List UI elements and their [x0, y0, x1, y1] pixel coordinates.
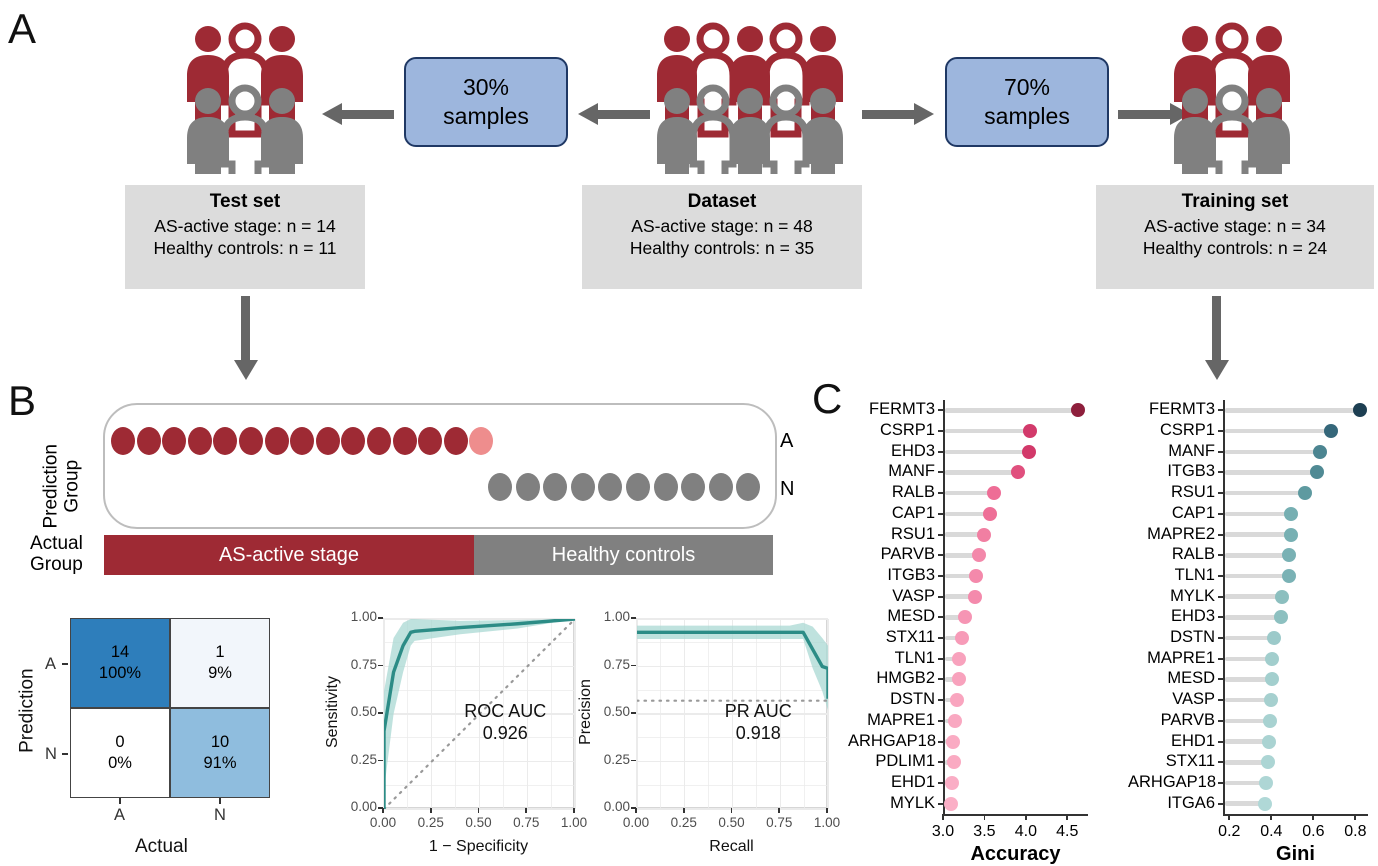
lollipop-dot [1259, 776, 1273, 790]
x-tick-label: 0.00 [619, 815, 653, 830]
prediction-dot-correct [341, 427, 365, 455]
lollipop-stem [1225, 594, 1282, 599]
lollipop-stem [1225, 553, 1289, 558]
prediction-dot-correct [367, 427, 391, 455]
lollipop-stem [945, 450, 1029, 455]
callout-70-line2: samples [984, 102, 1070, 131]
gene-label: ITGB3 [1128, 462, 1215, 481]
people-group-test-set [183, 22, 307, 174]
gene-label: MANF [1128, 442, 1215, 461]
prediction-dot-correct [290, 427, 314, 455]
x-tick-mark [1066, 814, 1068, 820]
panel-c-letter: C [812, 378, 842, 420]
y-tick-mark [631, 617, 636, 619]
y-tick-label: 0.00 [594, 799, 630, 814]
y-tick-mark [1218, 575, 1223, 577]
lollipop-stem [1225, 470, 1317, 475]
panel-b-letter: B [8, 380, 36, 422]
gene-label: STX11 [1128, 752, 1215, 771]
prediction-dot-healthy [709, 473, 733, 501]
test-set-line2: Healthy controls: n = 11 [135, 237, 355, 259]
y-tick-mark [938, 575, 943, 577]
callout-70-percent: 70% samples [945, 57, 1109, 147]
accuracy-lollipop-chart: FERMT3CSRP1EHD3MANFRALBCAP1RSU1PARVBITGB… [848, 392, 1096, 866]
cm-cell-n-n-percent: 91% [203, 753, 236, 774]
y-tick-mark [938, 616, 943, 618]
y-tick-mark [938, 554, 943, 556]
x-axis-title: Gini [1223, 843, 1368, 866]
group-bar-healthy-label: Healthy controls [552, 544, 695, 567]
y-tick-mark [378, 760, 383, 762]
gene-label: STX11 [848, 628, 935, 647]
x-tick-mark [683, 808, 685, 813]
prediction-dot-correct [188, 427, 212, 455]
gini-lollipop-chart: FERMT3CSRP1MANFITGB3RSU1CAP1MAPRE2RALBTL… [1128, 392, 1376, 866]
gene-label: FERMT3 [848, 400, 935, 419]
lollipop-dot [1324, 424, 1338, 438]
auc-annotation: ROC AUC0.926 [440, 700, 570, 745]
lollipop-dot [952, 672, 966, 686]
cm-cell-n-a-count: 0 [115, 732, 124, 753]
lollipop-dot [987, 486, 1001, 500]
y-tick-mark [1218, 678, 1223, 680]
lollipop-dot [1298, 486, 1312, 500]
x-tick-label: 0.50 [462, 815, 496, 830]
cm-cell-n-a-percent: 0% [108, 753, 132, 774]
row-label-a: A [780, 430, 793, 453]
lollipop-stem [1225, 615, 1281, 620]
gene-label: MANF [848, 462, 935, 481]
y-tick-mark [1218, 471, 1223, 473]
gene-label: ITGA6 [1128, 794, 1215, 813]
gene-label: MAPRE1 [1128, 649, 1215, 668]
cm-cell-a-n-count: 1 [215, 642, 224, 663]
x-tick-mark [525, 808, 527, 813]
auc-label: ROC AUC [464, 701, 546, 721]
gene-label: EHD3 [848, 442, 935, 461]
x-tick-mark [478, 808, 480, 813]
row-label-n: N [780, 478, 794, 501]
x-tick-mark [942, 814, 944, 820]
x-tick-mark [826, 808, 828, 813]
y-tick-mark [378, 807, 383, 809]
lollipop-dot [946, 735, 960, 749]
prediction-dot-correct [265, 427, 289, 455]
y-tick-mark [1218, 803, 1223, 805]
cm-row-label-a: A [45, 655, 56, 674]
gene-label: ARHGAP18 [848, 732, 935, 751]
callout-30-percent: 30% samples [404, 57, 568, 147]
lollipop-dot [983, 507, 997, 521]
prediction-dot-correct [213, 427, 237, 455]
info-box-training-set: Training set AS-active stage: n = 34 Hea… [1096, 185, 1374, 289]
gene-label: MESD [1128, 669, 1215, 688]
lollipop-dot [945, 776, 959, 790]
confusion-matrix: 14 100% 1 9% 0 0% 10 91% A N A N Predict… [0, 600, 310, 866]
prediction-dot-correct [111, 427, 135, 455]
prediction-dot-healthy [626, 473, 650, 501]
y-tick-mark [631, 760, 636, 762]
cm-cell-a-a-percent: 100% [99, 663, 141, 684]
y-tick-mark [1218, 534, 1223, 536]
prediction-dot-correct [162, 427, 186, 455]
y-tick-mark [938, 761, 943, 763]
test-set-line1: AS-active stage: n = 14 [135, 215, 355, 237]
gene-label: FERMT3 [1128, 400, 1215, 419]
test-set-title: Test set [135, 191, 355, 213]
cm-x-title: Actual [135, 836, 188, 858]
gene-label: MYLK [848, 794, 935, 813]
pr-plot: 0.000.250.500.751.000.000.250.500.751.00… [578, 600, 833, 866]
cm-col-tick-a [119, 798, 121, 804]
y-tick-mark [1218, 492, 1223, 494]
callout-30-line1: 30% [443, 73, 529, 102]
lollipop-dot [1313, 445, 1327, 459]
gene-label: TLN1 [1128, 566, 1215, 585]
lollipop-dot [1263, 714, 1277, 728]
prediction-dot-misclassified [469, 427, 493, 455]
x-tick-label: 0.00 [366, 815, 400, 830]
lollipop-dot [1274, 610, 1288, 624]
gene-label: EHD3 [1128, 607, 1215, 626]
y-tick-mark [938, 637, 943, 639]
prediction-group-line2: Group [62, 460, 83, 513]
cm-cell-a-n: 1 9% [170, 618, 270, 708]
group-bar-as-active-label: AS-active stage [219, 544, 359, 567]
lollipop-dot [1284, 507, 1298, 521]
y-tick-mark [938, 492, 943, 494]
y-tick-label: 0.50 [594, 704, 630, 719]
lollipop-stem [1225, 450, 1320, 455]
gene-label: PARVB [1128, 711, 1215, 730]
confidence-band [637, 623, 828, 710]
lollipop-stem [945, 408, 1078, 413]
lollipop-dot [1022, 445, 1036, 459]
x-tick-mark [1025, 814, 1027, 820]
cm-col-label-a: A [114, 806, 125, 825]
gene-label: PARVB [848, 545, 935, 564]
prediction-dot-correct [444, 427, 468, 455]
y-tick-mark [1218, 761, 1223, 763]
x-tick-mark [1270, 814, 1272, 820]
x-tick-label: 1.00 [810, 815, 844, 830]
training-set-title: Training set [1106, 191, 1364, 213]
prediction-dot-healthy [488, 473, 512, 501]
lollipop-dot [958, 610, 972, 624]
lollipop-stem [1225, 408, 1360, 413]
group-bar-as-active: AS-active stage [104, 535, 474, 575]
prediction-group-line1: Prediction [41, 444, 62, 529]
lollipop-dot [1353, 403, 1367, 417]
actual-group-line2: Group [30, 554, 83, 575]
x-tick-mark [778, 808, 780, 813]
x-tick-label: 3.0 [921, 823, 965, 841]
x-tick-label: 0.4 [1249, 823, 1293, 841]
y-tick-mark [378, 617, 383, 619]
y-tick-mark [1218, 782, 1223, 784]
x-tick-label: 4.0 [1004, 823, 1048, 841]
lollipop-stem [1225, 491, 1305, 496]
gene-label: RALB [848, 483, 935, 502]
y-tick-mark [1218, 430, 1223, 432]
prediction-dot-healthy [681, 473, 705, 501]
prediction-dot-healthy [571, 473, 595, 501]
gene-label: RSU1 [848, 525, 935, 544]
lollipop-dot [947, 755, 961, 769]
dataset-line2: Healthy controls: n = 35 [592, 237, 852, 259]
cm-row-tick-a [62, 663, 68, 665]
gene-label: EHD1 [848, 773, 935, 792]
gene-label: RSU1 [1128, 483, 1215, 502]
lollipop-dot [1265, 652, 1279, 666]
y-tick-mark [631, 712, 636, 714]
x-tick-mark [984, 814, 986, 820]
prediction-dot-correct [418, 427, 442, 455]
gene-label: DSTN [1128, 628, 1215, 647]
gene-label: DSTN [848, 690, 935, 709]
gene-label: VASP [848, 587, 935, 606]
gene-label: CAP1 [848, 504, 935, 523]
x-tick-label: 0.6 [1291, 823, 1335, 841]
dataset-line1: AS-active stage: n = 48 [592, 215, 852, 237]
y-tick-mark [938, 409, 943, 411]
y-tick-label: 1.00 [594, 609, 630, 624]
lollipop-dot [944, 797, 958, 811]
lollipop-dot [950, 693, 964, 707]
lollipop-dot [955, 631, 969, 645]
people-group-training-set [1170, 22, 1294, 174]
gene-label: PDLIM1 [848, 752, 935, 771]
x-tick-mark [573, 808, 575, 813]
lollipop-stem [1225, 429, 1331, 434]
roc-plot: 0.000.250.500.751.000.000.250.500.751.00… [325, 600, 580, 866]
people-group-dataset [655, 22, 855, 174]
cm-cell-n-n: 10 91% [170, 708, 270, 798]
x-tick-label: 0.25 [667, 815, 701, 830]
lollipop-dot [968, 590, 982, 604]
y-tick-mark [1218, 720, 1223, 722]
prediction-dot-healthy [543, 473, 567, 501]
cm-cell-n-n-count: 10 [211, 732, 229, 753]
lollipop-stem [1225, 532, 1291, 537]
lollipop-stem [945, 429, 1030, 434]
y-axis-title: Sensitivity [324, 617, 342, 807]
lollipop-dot [1071, 403, 1085, 417]
x-tick-label: 3.5 [962, 823, 1006, 841]
auc-annotation: PR AUC0.918 [693, 700, 823, 745]
y-tick-mark [938, 596, 943, 598]
lollipop-dot [1264, 693, 1278, 707]
y-tick-mark [938, 451, 943, 453]
auc-value: 0.918 [736, 723, 781, 743]
y-tick-mark [1218, 554, 1223, 556]
dataset-title: Dataset [592, 191, 852, 213]
y-tick-label: 0.50 [341, 704, 377, 719]
prediction-dot-container [103, 403, 777, 529]
y-tick-mark [1218, 513, 1223, 515]
y-tick-mark [378, 712, 383, 714]
callout-70-line1: 70% [984, 73, 1070, 102]
x-tick-label: 4.5 [1045, 823, 1089, 841]
x-tick-mark [1354, 814, 1356, 820]
y-tick-mark [1218, 616, 1223, 618]
actual-group-axis-label: Actual Group [30, 533, 83, 576]
x-tick-label: 0.75 [509, 815, 543, 830]
lollipop-dot [1262, 735, 1276, 749]
lollipop-dot [948, 714, 962, 728]
y-tick-mark [938, 720, 943, 722]
prediction-dot-correct [393, 427, 417, 455]
lollipop-dot [1267, 631, 1281, 645]
gene-label: MESD [848, 607, 935, 626]
x-tick-label: 0.2 [1207, 823, 1251, 841]
prediction-dot-correct [316, 427, 340, 455]
x-axis-title: 1 − Specificity [383, 838, 574, 856]
y-tick-mark [938, 699, 943, 701]
y-tick-mark [938, 534, 943, 536]
lollipop-dot [969, 569, 983, 583]
gene-label: CAP1 [1128, 504, 1215, 523]
lollipop-dot [1310, 465, 1324, 479]
lollipop-dot [1275, 590, 1289, 604]
y-tick-mark [938, 741, 943, 743]
x-axis-line [1223, 814, 1368, 816]
lollipop-stem [945, 470, 1018, 475]
training-set-line2: Healthy controls: n = 24 [1106, 237, 1364, 259]
x-tick-mark [1312, 814, 1314, 820]
y-tick-mark [1218, 596, 1223, 598]
y-axis-line [943, 400, 945, 814]
prediction-dot-correct [137, 427, 161, 455]
y-tick-mark [1218, 741, 1223, 743]
y-tick-mark [938, 803, 943, 805]
x-tick-label: 0.25 [414, 815, 448, 830]
lollipop-dot [1261, 755, 1275, 769]
cm-y-title: Prediction [16, 666, 37, 756]
cm-cell-a-a-count: 14 [111, 642, 129, 663]
x-tick-mark [1228, 814, 1230, 820]
y-tick-mark [631, 807, 636, 809]
y-tick-mark [1218, 699, 1223, 701]
callout-30-line2: samples [443, 102, 529, 131]
gene-label: CSRP1 [848, 421, 935, 440]
y-axis-title: Precision [577, 617, 595, 807]
auc-value: 0.926 [483, 723, 528, 743]
lollipop-dot [1265, 672, 1279, 686]
gene-label: MAPRE2 [1128, 525, 1215, 544]
y-tick-mark [1218, 409, 1223, 411]
y-axis-line [1223, 400, 1225, 814]
group-bar-healthy: Healthy controls [474, 535, 773, 575]
gene-label: HMGB2 [848, 669, 935, 688]
lollipop-dot [1282, 569, 1296, 583]
auc-label: PR AUC [725, 701, 792, 721]
x-tick-label: 0.75 [762, 815, 796, 830]
lollipop-dot [1258, 797, 1272, 811]
y-tick-mark [938, 658, 943, 660]
x-axis-title: Recall [636, 838, 827, 856]
cm-cell-n-a: 0 0% [70, 708, 170, 798]
cm-row-label-n: N [45, 745, 57, 764]
lollipop-stem [1225, 512, 1291, 517]
gene-label: MAPRE1 [848, 711, 935, 730]
y-tick-mark [938, 430, 943, 432]
panel-a-letter: A [8, 8, 36, 50]
gene-label: MYLK [1128, 587, 1215, 606]
y-tick-mark [378, 665, 383, 667]
lollipop-dot [952, 652, 966, 666]
gene-label: ITGB3 [848, 566, 935, 585]
y-tick-label: 0.75 [594, 657, 630, 672]
prediction-dot-correct [239, 427, 263, 455]
main-curve [637, 632, 828, 699]
y-tick-label: 1.00 [341, 609, 377, 624]
lollipop-dot [1284, 528, 1298, 542]
y-tick-mark [938, 513, 943, 515]
gene-label: TLN1 [848, 649, 935, 668]
y-tick-label: 0.75 [341, 657, 377, 672]
x-tick-label: 0.50 [715, 815, 749, 830]
prediction-dot-healthy [598, 473, 622, 501]
cm-cell-a-a: 14 100% [70, 618, 170, 708]
y-tick-mark [631, 665, 636, 667]
cm-col-tick-n [219, 798, 221, 804]
y-tick-mark [938, 782, 943, 784]
gene-label: RALB [1128, 545, 1215, 564]
x-tick-mark [430, 808, 432, 813]
y-tick-mark [1218, 658, 1223, 660]
y-tick-mark [1218, 637, 1223, 639]
cm-row-tick-n [62, 753, 68, 755]
prediction-dot-healthy [736, 473, 760, 501]
lollipop-dot [1011, 465, 1025, 479]
lollipop-dot [1282, 548, 1296, 562]
info-box-dataset: Dataset AS-active stage: n = 48 Healthy … [582, 185, 862, 289]
y-tick-mark [938, 678, 943, 680]
lollipop-dot [972, 548, 986, 562]
lollipop-dot [1023, 424, 1037, 438]
gene-label: EHD1 [1128, 732, 1215, 751]
x-tick-label: 0.8 [1333, 823, 1377, 841]
prediction-dot-healthy [654, 473, 678, 501]
lollipop-stem [1225, 574, 1289, 579]
x-tick-mark [731, 808, 733, 813]
training-set-line1: AS-active stage: n = 34 [1106, 215, 1364, 237]
prediction-dot-healthy [516, 473, 540, 501]
cm-cell-a-n-percent: 9% [208, 663, 232, 684]
y-tick-label: 0.25 [341, 752, 377, 767]
actual-group-line1: Actual [30, 533, 83, 554]
info-box-test-set: Test set AS-active stage: n = 14 Healthy… [125, 185, 365, 289]
gene-label: CSRP1 [1128, 421, 1215, 440]
y-tick-label: 0.00 [341, 799, 377, 814]
x-axis-title: Accuracy [943, 843, 1088, 866]
y-tick-label: 0.25 [594, 752, 630, 767]
y-tick-mark [938, 471, 943, 473]
cm-col-label-n: N [214, 806, 226, 825]
gene-label: ARHGAP18 [1128, 773, 1215, 792]
y-tick-mark [1218, 451, 1223, 453]
gene-label: VASP [1128, 690, 1215, 709]
lollipop-dot [977, 528, 991, 542]
